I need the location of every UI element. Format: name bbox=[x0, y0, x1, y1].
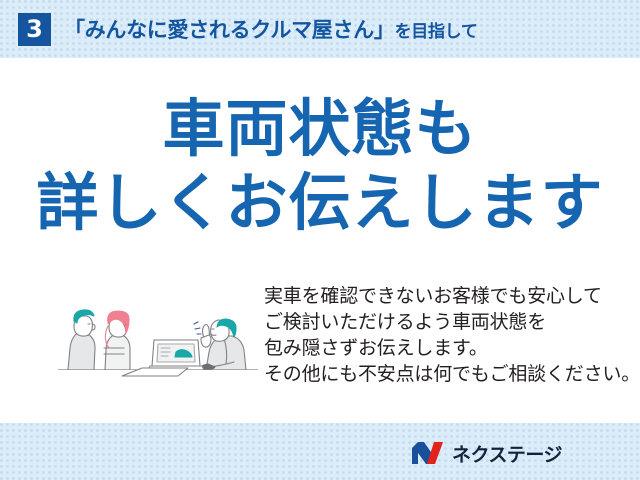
header-title: 「みんなに愛されるクルマ屋さん」を目指して bbox=[64, 14, 478, 44]
consultation-illustration bbox=[58, 276, 258, 388]
body-copy-line-3: 包み隠さずお伝えします。 bbox=[264, 335, 614, 361]
section-number-label: 3 bbox=[26, 17, 43, 41]
customer-female-body bbox=[105, 336, 130, 370]
consultation-illustration-svg bbox=[58, 276, 258, 388]
body-copy-line-4: その他にも不安点は何でもご相談ください。 bbox=[264, 361, 614, 387]
brand-logo-text: ネクステージ bbox=[452, 440, 562, 467]
sales-staff-fist bbox=[201, 335, 211, 347]
nextage-n-mark-icon bbox=[411, 441, 445, 465]
headline-line-1: 車両状態も bbox=[0, 92, 640, 166]
brand-logo: ネクステージ bbox=[411, 440, 562, 466]
section-number-badge: 3 bbox=[18, 13, 51, 46]
sales-staff-body bbox=[206, 336, 246, 370]
body-copy-line-2: ご検討いただけるよう車両状態を bbox=[264, 309, 614, 335]
slide-root: 3 「みんなに愛されるクルマ屋さん」を目指して 車両状態も 詳しくお伝えします bbox=[0, 0, 640, 480]
headline-line-2: 詳しくお伝えします bbox=[0, 166, 640, 240]
body-copy-line-1: 実車を確認できないお客様でも安心して bbox=[264, 283, 614, 309]
headline: 車両状態も 詳しくお伝えします bbox=[0, 92, 640, 240]
body-copy: 実車を確認できないお客様でも安心して ご検討いただけるよう車両状態を 包み隠さず… bbox=[264, 283, 614, 387]
header-content: 3 「みんなに愛されるクルマ屋さん」を目指して bbox=[0, 0, 640, 58]
speech-sparkle-icon bbox=[194, 322, 201, 334]
document-sheet bbox=[122, 368, 188, 376]
customer-male-body bbox=[68, 334, 95, 370]
header-title-quoted: 「みんなに愛されるクルマ屋さん」 bbox=[64, 18, 395, 42]
header-title-suffix: を目指して bbox=[395, 22, 478, 42]
